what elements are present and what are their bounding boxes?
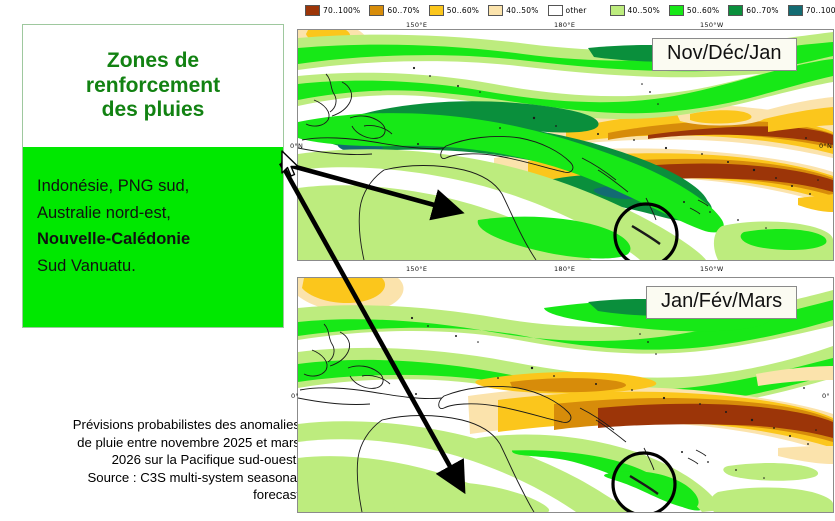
legend-label: other xyxy=(566,6,587,15)
callout-region-line: Sud Vanuatu. xyxy=(37,253,283,280)
callout-box: Zones de renforcement des pluies Indonés… xyxy=(22,24,284,328)
caption-line: 2026 sur la Pacifique sud-ouest. xyxy=(4,451,300,469)
x-tick-bottom-180e: 180°E xyxy=(554,265,575,273)
legend-label: 40..50% xyxy=(628,6,660,15)
legend-swatch-dry-70-100 xyxy=(305,5,320,16)
callout-region-line: Indonésie, PNG sud, xyxy=(37,173,283,200)
legend-swatch-dry-40-50 xyxy=(488,5,503,16)
legend-swatch-other xyxy=(548,5,563,16)
caption-line: Prévisions probabilistes des anomalies xyxy=(4,416,300,434)
mouse-cursor-icon xyxy=(280,150,302,180)
legend-swatch-wet-40-50 xyxy=(610,5,625,16)
x-tick-bottom-150e: 150°E xyxy=(406,265,427,273)
x-tick-top-180e: 180°E xyxy=(554,21,575,29)
legend-label: 50..60% xyxy=(447,6,479,15)
legend-item: 50..60% xyxy=(669,5,719,16)
figure-caption: Prévisions probabilistes des anomalies d… xyxy=(4,416,300,504)
y-tick-left-ndj: 0°N xyxy=(290,142,303,150)
season-tag-jfm: Jan/Fév/Mars xyxy=(646,286,797,319)
caption-line: de pluie entre novembre 2025 et mars xyxy=(4,434,300,452)
x-tick-top-150w: 150°W xyxy=(700,21,724,29)
legend-item: 50..60% xyxy=(429,5,479,16)
legend-swatch-dry-60-70 xyxy=(369,5,384,16)
legend-swatch-dry-50-60 xyxy=(429,5,444,16)
legend-label: 50..60% xyxy=(687,6,719,15)
callout-title-line: Zones de xyxy=(86,49,220,74)
caption-line: forecast xyxy=(4,486,300,504)
legend-label: 60..70% xyxy=(746,6,778,15)
y-tick-right-ndj: 0°N xyxy=(819,142,832,150)
legend-swatch-wet-70-100 xyxy=(788,5,803,16)
callout-region-line-highlight: Nouvelle-Calédonie xyxy=(37,226,283,253)
legend-item: 40..50% xyxy=(488,5,538,16)
x-tick-top-150e: 150°E xyxy=(406,21,427,29)
callout-title-line: renforcement xyxy=(86,74,220,99)
legend-item: 70..100% xyxy=(305,5,360,16)
y-tick-right-jfm: 0° xyxy=(822,392,830,400)
y-tick-left-jfm: 0° xyxy=(291,392,299,400)
probability-legend: 70..100% 60..70% 50..60% 40..50% other 4… xyxy=(305,2,835,18)
callout-title: Zones de renforcement des pluies xyxy=(23,25,283,147)
callout-region-line: Australie nord-est, xyxy=(37,200,283,227)
callout-body: Indonésie, PNG sud, Australie nord-est, … xyxy=(23,147,283,327)
legend-item: 60..70% xyxy=(369,5,419,16)
legend-label: 70..100% xyxy=(323,6,360,15)
legend-label: 40..50% xyxy=(506,6,538,15)
legend-item: 40..50% xyxy=(610,5,660,16)
x-tick-bottom-150w: 150°W xyxy=(700,265,724,273)
legend-item: 70..100% xyxy=(788,5,835,16)
caption-line: Source : C3S multi-system seasonal xyxy=(4,469,300,487)
legend-label: 60..70% xyxy=(387,6,419,15)
season-tag-ndj: Nov/Déc/Jan xyxy=(652,38,797,71)
callout-title-line: des pluies xyxy=(86,98,220,123)
legend-swatch-wet-50-60 xyxy=(669,5,684,16)
legend-label: 70..100% xyxy=(806,6,835,15)
legend-item: other xyxy=(548,5,587,16)
legend-item: 60..70% xyxy=(728,5,778,16)
legend-swatch-wet-60-70 xyxy=(728,5,743,16)
